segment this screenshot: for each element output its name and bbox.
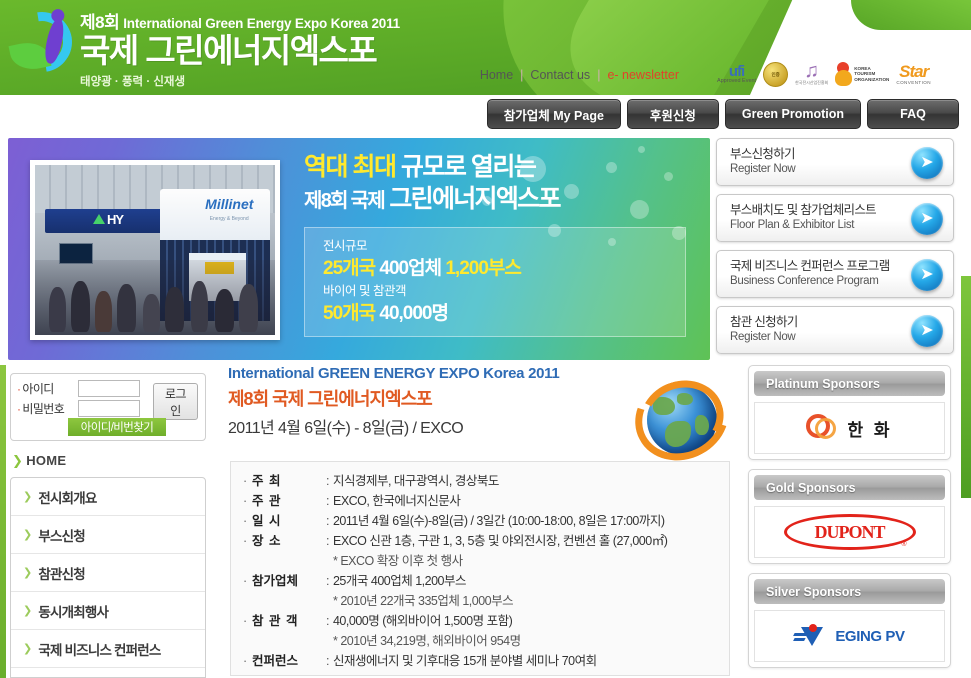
- ufi-approved-event-icon: ufi Approved Event: [717, 56, 756, 92]
- bullet-icon: ·: [243, 511, 252, 531]
- info-value: 25개국 400업체 1,200부스: [333, 571, 466, 591]
- info-row: · 장 소 : EXCO 신관 1층, 구관 1, 3, 5층 및 야외전시장,…: [243, 531, 729, 551]
- banner-headline-rest: 규모로 열리는: [401, 153, 535, 181]
- quick-link-floor-plan-exhibitor-list[interactable]: 부스배치도 및 참가업체리스트 Floor Plan & Exhibitor L…: [716, 194, 954, 242]
- seal-shape: 인증: [763, 62, 788, 87]
- eging-logo-text: EGING PV: [835, 628, 904, 645]
- top-link-separator-2: |: [597, 68, 600, 82]
- ufi-logo-text: ufi: [729, 65, 744, 78]
- info-row: · 참 관 객 : 40,000명 (해외바이어 1,500명 포함): [243, 611, 729, 631]
- star-logo-text: Star: [899, 64, 928, 80]
- arrow-right-icon: ➤: [911, 203, 943, 235]
- stat-scale-countries: 25개국: [323, 258, 375, 279]
- quick-link-booth-registration[interactable]: 부스신청하기 Register Now ➤: [716, 138, 954, 186]
- info-value: 40,000명 (해외바이어 1,500명 포함): [333, 611, 512, 631]
- nav-button-sponsorship-application[interactable]: 후원신청: [627, 99, 719, 129]
- exhibition-photo: HY Millinet Energy & Beyond: [30, 160, 280, 340]
- header-title-block: 제8회 International Green Energy Expo Kore…: [80, 8, 400, 89]
- star-logo-caption: CONVENTION: [896, 80, 931, 85]
- sidebar-item-label: 참관신청: [38, 563, 84, 583]
- silver-sponsors-header: Silver Sponsors: [754, 579, 945, 604]
- info-label: 참가업체: [252, 571, 326, 591]
- sidebar-menu: ❯ 전시회개요 ❯ 부스신청 ❯ 참관신청 ❯ 동시개최행사 ❯ 국제 비즈니스…: [10, 477, 206, 678]
- purple-association-icon: ♫ 한국전시산업진흥회: [795, 56, 828, 92]
- stat-label-visitors: 바이어 및 참관객: [323, 282, 685, 301]
- dupont-logo-text: DUPONT: [815, 522, 885, 543]
- partner-logos: ufi Approved Event 인증 ♫ 한국전시산업진흥회 KOREAT…: [717, 56, 931, 92]
- nav-button-green-promotion[interactable]: Green Promotion: [725, 99, 861, 129]
- dupont-logo[interactable]: DUPONT: [754, 506, 945, 558]
- quick-link-visitor-registration[interactable]: 참관 신청하기 Register Now ➤: [716, 306, 954, 354]
- chevron-right-icon: ❯: [23, 528, 31, 541]
- purple-symbol-shape: ♫: [804, 62, 819, 80]
- chevron-right-icon: ❯: [23, 642, 31, 655]
- info-value: 신재생에너지 및 기후대응 15개 분야별 세미나 70여회: [333, 651, 597, 671]
- banner-stats-box: 전시규모 25개국 400업체 1,200부스 바이어 및 참관객 50개국 4…: [304, 227, 686, 337]
- info-value: EXCO, 한국에너지신문사: [333, 491, 460, 511]
- info-row: · 주 최 : 지식경제부, 대구광역시, 경상북도: [243, 471, 729, 491]
- hanwha-mark-icon: [806, 413, 840, 443]
- left-green-edge: [0, 365, 6, 678]
- stat-scale-booths: 1,200부스: [445, 258, 521, 279]
- stat-value-visitors: 50개국 40,000명: [323, 301, 685, 327]
- info-row: · 주 관 : EXCO, 한국에너지신문사: [243, 491, 729, 511]
- header-corner-accent: [851, 0, 971, 30]
- kto-figure-shape: [835, 62, 852, 86]
- sidebar-item-concurrent-events[interactable]: ❯ 동시개최행사: [11, 592, 205, 630]
- header-subtitle: 태양광 · 풍력 · 신재생: [80, 73, 400, 89]
- header-title-ko: 국제 그린에너지엑스포: [80, 34, 400, 69]
- stat-value-scale: 25개국 400업체 1,200부스: [323, 256, 685, 282]
- banner-headline-highlight: 역대 최대: [304, 153, 395, 181]
- korea-tourism-organization-icon: KOREATOURISMORGANIZATION: [835, 56, 889, 92]
- nav-button-faq[interactable]: FAQ: [867, 99, 959, 129]
- login-password-input[interactable]: [78, 400, 140, 417]
- sidebar-item-label: 국제 비즈니스 컨퍼런스: [38, 639, 160, 659]
- banner-headline-2-small: 제8회 국제: [304, 190, 384, 212]
- info-value: 2011년 4월 6일(수)-8일(금) / 3일간 (10:00-18:00,…: [333, 511, 665, 531]
- silver-sponsors-box: Silver Sponsors EGING PV: [748, 573, 951, 668]
- hero-banner[interactable]: HY Millinet Energy & Beyond: [8, 138, 710, 360]
- hanwha-logo-text: 한 화: [847, 416, 892, 441]
- kto-caption: KOREATOURISMORGANIZATION: [854, 66, 889, 83]
- banner-headline-1: 역대 최대 규모로 열리는: [304, 152, 696, 182]
- event-info-box: · 주 최 : 지식경제부, 대구광역시, 경상북도 · 주 관 : EXCO,…: [230, 461, 730, 676]
- header-edition: 제8회: [80, 8, 119, 33]
- photo-sign-millinet: Millinet: [205, 196, 253, 212]
- bullet-icon: ·: [243, 531, 252, 551]
- top-links: Home | Contact us | e- newsletter: [480, 68, 679, 82]
- star-convention-icon: Star CONVENTION: [896, 56, 931, 92]
- arrow-right-icon: ➤: [911, 259, 943, 291]
- globe-arrow-arc-2: [631, 370, 734, 466]
- chevron-right-icon: ❯: [23, 566, 31, 579]
- emblem-ring-shape: [0, 0, 84, 84]
- find-id-password-button[interactable]: 아이디/비번찾기: [68, 418, 166, 436]
- info-value: EXCO 신관 1층, 구관 1, 3, 5층 및 야외전시장, 컨벤션 홀 (…: [333, 531, 667, 551]
- stat-visitors-count: 40,000명: [379, 303, 448, 324]
- top-link-separator-1: |: [520, 68, 523, 82]
- gold-seal-badge-icon: 인증: [763, 56, 788, 92]
- chevron-right-icon: ❯: [23, 490, 31, 503]
- top-link-contact-us[interactable]: Contact us: [530, 68, 590, 82]
- quick-link-business-conference-program[interactable]: 국제 비즈니스 컨퍼런스 프로그램 Business Conference Pr…: [716, 250, 954, 298]
- bullet-icon: ·: [243, 611, 252, 631]
- chevron-right-icon: ❯: [12, 453, 23, 468]
- info-label: 컨퍼런스: [252, 651, 326, 671]
- sidebar-item-international-business-conference[interactable]: ❯ 국제 비즈니스 컨퍼런스: [11, 630, 205, 668]
- bullet-icon: ·: [243, 571, 252, 591]
- login-id-label: 아이디: [17, 380, 73, 397]
- top-link-e-newsletter[interactable]: e- newsletter: [607, 68, 679, 82]
- info-note: * 2010년 34,219명, 해외바이어 954명: [243, 631, 729, 651]
- sidebar-item-booth-application[interactable]: ❯ 부스신청: [11, 516, 205, 554]
- nav-button-my-page[interactable]: 참가업체 My Page: [487, 99, 621, 129]
- photo-sign-hyundai: HY: [107, 212, 123, 227]
- banner-text-block: 역대 최대 규모로 열리는 제8회 국제 그린에너지엑스포 전시규모 25개국 …: [304, 152, 696, 337]
- ufi-logo-caption: Approved Event: [717, 78, 756, 84]
- info-label: 참 관 객: [252, 611, 326, 631]
- info-row: · 일 시 : 2011년 4월 6일(수)-8일(금) / 3일간 (10:0…: [243, 511, 729, 531]
- sidebar-item-label: 동시개최행사: [38, 601, 108, 621]
- sponsors-panel: Platinum Sponsors 한 화 Gold Sponsors DUPO…: [748, 365, 961, 678]
- sidebar-item-label: 전시회개요: [38, 487, 96, 507]
- info-label: 주 최: [252, 471, 326, 491]
- arrow-right-icon: ➤: [911, 147, 943, 179]
- info-row: · 참가업체 : 25개국 400업체 1,200부스: [243, 571, 729, 591]
- hanwha-logo[interactable]: 한 화: [754, 402, 945, 454]
- login-password-label: 비밀번호: [17, 400, 73, 417]
- bullet-icon: ·: [243, 651, 252, 671]
- stat-visitors-countries: 50개국: [323, 303, 375, 324]
- login-button[interactable]: 로그인: [153, 383, 198, 420]
- exhibition-photo-image: HY Millinet Energy & Beyond: [35, 165, 275, 335]
- site-logo[interactable]: [8, 8, 78, 80]
- header-title-en: International Green Energy Expo Korea 20…: [123, 16, 400, 31]
- site-header: 제8회 International Green Energy Expo Kore…: [0, 0, 971, 95]
- body-row: 아이디 비밀번호 로그인 아이디/비번찾기 ❯HOME ❯ 전시회개요 ❯ 부스…: [0, 365, 971, 678]
- platinum-sponsors-header: Platinum Sponsors: [754, 371, 945, 396]
- info-row: · 컨퍼런스 : 신재생에너지 및 기후대응 15개 분야별 세미나 70여회: [243, 651, 729, 671]
- quick-link-panel: 부스신청하기 Register Now ➤ 부스배치도 및 참가업체리스트 Fl…: [716, 138, 956, 362]
- expo-emblem-icon: [8, 8, 76, 76]
- top-link-home[interactable]: Home: [480, 68, 513, 82]
- banner-row: HY Millinet Energy & Beyond: [0, 138, 971, 360]
- sidebar-item-label: 부스신청: [38, 525, 84, 545]
- eging-logo-group: EGING PV: [794, 624, 904, 648]
- login-id-input[interactable]: [78, 380, 140, 397]
- info-note: * EXCO 확장 이후 첫 행사: [243, 551, 729, 571]
- banner-headline-2-big: 그린에너지엑스포: [389, 185, 559, 213]
- bullet-icon: ·: [243, 471, 252, 491]
- globe-icon: [634, 371, 730, 463]
- breadcrumb[interactable]: ❯HOME: [12, 453, 66, 469]
- stat-label-scale: 전시규모: [323, 237, 685, 256]
- eging-mark-icon: [794, 624, 830, 648]
- info-label: 일 시: [252, 511, 326, 531]
- arrow-right-icon: ➤: [911, 315, 943, 347]
- bullet-icon: ·: [243, 491, 252, 511]
- info-label: 주 관: [252, 491, 326, 511]
- platinum-sponsors-box: Platinum Sponsors 한 화: [748, 365, 951, 460]
- main-nav-buttons: 참가업체 My Page 후원신청 Green Promotion FAQ: [487, 99, 959, 129]
- info-value: 지식경제부, 대구광역시, 경상북도: [333, 471, 499, 491]
- login-box: 아이디 비밀번호 로그인 아이디/비번찾기: [10, 373, 206, 441]
- stat-scale-companies: 400업체: [379, 258, 441, 279]
- sidebar-item-exhibition-overview[interactable]: ❯ 전시회개요: [11, 478, 205, 516]
- gold-sponsors-box: Gold Sponsors DUPONT: [748, 469, 951, 564]
- photo-sign-millinet-sub: Energy & Beyond: [210, 216, 249, 222]
- sidebar-item-visitor-application[interactable]: ❯ 참관신청: [11, 554, 205, 592]
- gold-sponsors-header: Gold Sponsors: [754, 475, 945, 500]
- eging-pv-logo[interactable]: EGING PV: [754, 610, 945, 662]
- dupont-oval-icon: DUPONT: [784, 514, 916, 550]
- banner-headline-2: 제8회 국제 그린에너지엑스포: [304, 183, 696, 217]
- info-label: 장 소: [252, 531, 326, 551]
- breadcrumb-label: HOME: [26, 453, 66, 468]
- purple-caption: 한국전시산업진흥회: [795, 80, 828, 86]
- info-note: * 2010년 22개국 335업체 1,000부스: [243, 591, 729, 611]
- main-content: International GREEN ENERGY EXPO Korea 20…: [228, 365, 740, 678]
- page-root: 제8회 International Green Energy Expo Kore…: [0, 0, 971, 678]
- chevron-right-icon: ❯: [23, 604, 31, 617]
